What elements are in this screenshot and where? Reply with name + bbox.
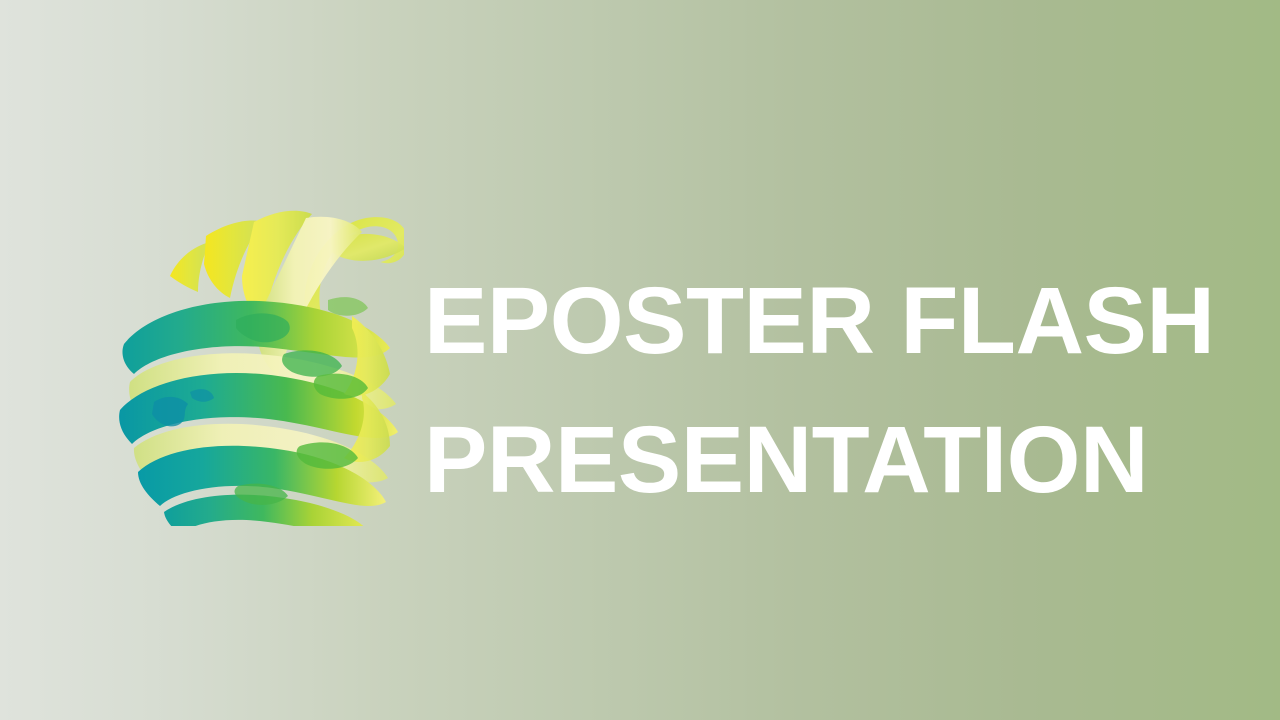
- presentation-slide: EPOSTER FLASH PRESENTATION: [0, 0, 1280, 720]
- title-line-2: PRESENTATION: [424, 391, 1224, 530]
- title-line-1: EPOSTER FLASH: [424, 252, 1224, 391]
- globe-ribbon-logo: [118, 196, 404, 526]
- slide-title: EPOSTER FLASH PRESENTATION: [424, 252, 1224, 530]
- logo-ribbon-tip: [170, 242, 210, 292]
